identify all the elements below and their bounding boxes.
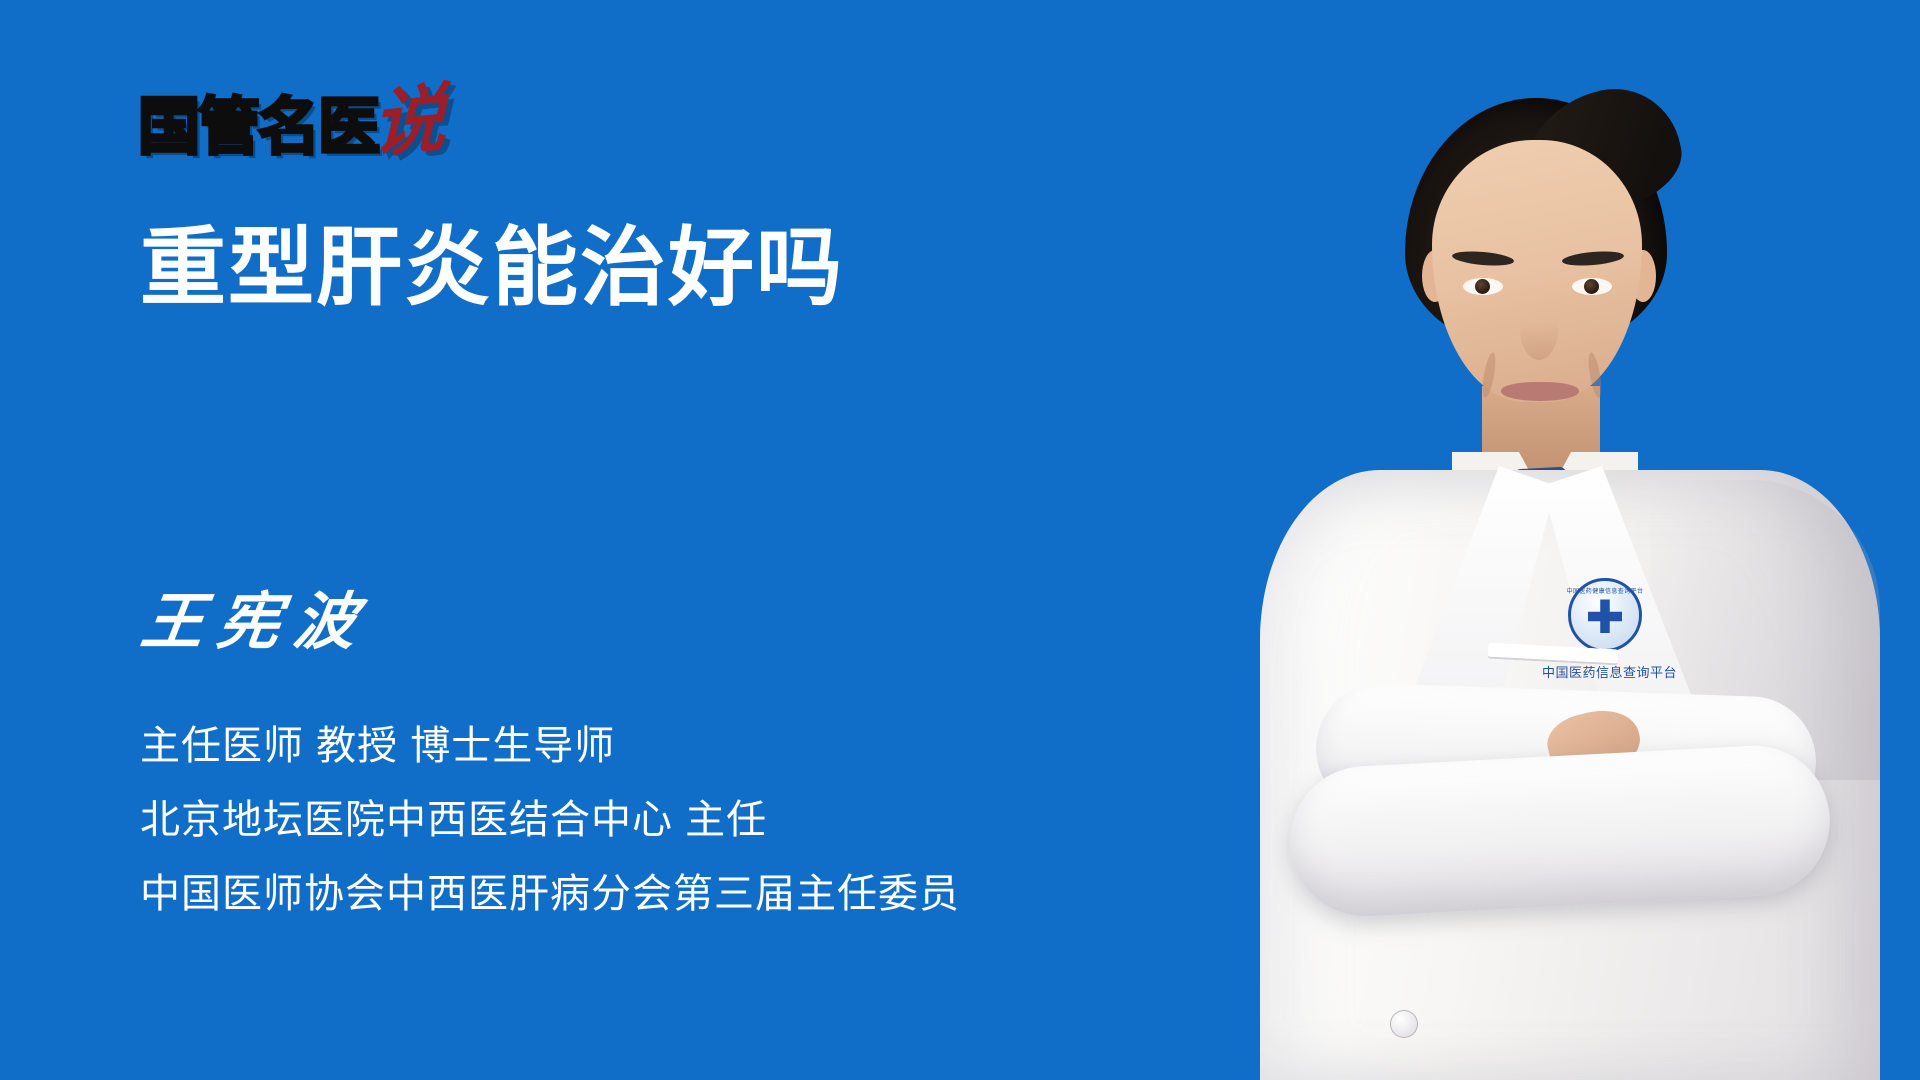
portrait-nose (1520, 298, 1558, 360)
portrait-eye-left (1463, 278, 1503, 295)
credential-line: 中国医师协会中西医肝病分会第三届主任委员 (140, 870, 960, 918)
program-logo: 国管名医 说 (138, 86, 446, 158)
portrait-face (1432, 140, 1642, 402)
program-logo-accent-character: 说 (372, 86, 446, 158)
portrait-arm-lower-crossed (1286, 742, 1833, 920)
slide-canvas: 国管名医 说 重型肝炎能治好吗 王宪波 主任医师 教授 博士生导师 北京地坛医院… (0, 0, 1920, 1080)
badge-ring-text: 中国医药健康信息查询平台 (1567, 586, 1644, 595)
doctor-name: 王宪波 (137, 586, 375, 658)
portrait-coat-button (1390, 1010, 1418, 1038)
doctor-credentials: 主任医师 教授 博士生导师 北京地坛医院中西医结合中心 主任 中国医师协会中西医… (140, 722, 960, 918)
portrait-eye-right (1572, 278, 1612, 295)
page-title: 重型肝炎能治好吗 (140, 218, 844, 318)
hospital-badge: 中国医药健康信息查询平台 (1568, 578, 1642, 652)
credential-line: 主任医师 教授 博士生导师 (140, 722, 960, 770)
portrait-mouth (1501, 382, 1579, 401)
credential-line: 北京地坛医院中西医结合中心 主任 (140, 796, 960, 844)
program-logo-main-text: 国管名医 (138, 96, 378, 158)
doctor-portrait-photo: 中国医药健康信息查询平台 中国医药信息查询平台 (1220, 0, 1920, 1080)
